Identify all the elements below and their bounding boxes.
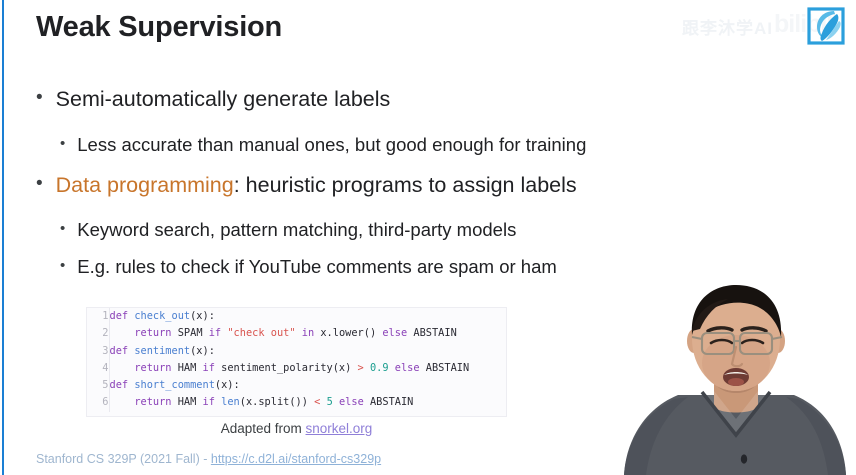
d2l-logo-icon bbox=[804, 5, 848, 49]
token-keyword: in bbox=[302, 327, 314, 339]
code-line-4: return HAM if sentiment_polarity(x) > 0.… bbox=[109, 360, 506, 377]
page-title: Weak Supervision bbox=[36, 11, 282, 44]
token-keyword: def bbox=[110, 310, 129, 322]
line-number: 4 bbox=[87, 360, 109, 377]
bullet-marker-icon: • bbox=[36, 174, 43, 193]
code-line-row: 4 return HAM if sentiment_polarity(x) > … bbox=[87, 360, 506, 377]
code-attribution: Adapted from snorkel.org bbox=[86, 421, 507, 436]
token-string: "check out" bbox=[227, 327, 295, 339]
token-plain: (x): bbox=[190, 345, 215, 357]
left-accent-rail bbox=[2, 0, 4, 475]
token-keyword: if bbox=[209, 327, 221, 339]
bullet-text-5: E.g. rules to check if YouTube comments … bbox=[77, 256, 557, 278]
token-operator: > bbox=[358, 362, 364, 374]
token-plain: ABSTAIN bbox=[370, 396, 413, 408]
slide-canvas: Weak Supervision • Semi-automatically ge… bbox=[0, 0, 856, 475]
token-keyword: if bbox=[203, 396, 215, 408]
attribution-prefix: Adapted from bbox=[221, 421, 306, 436]
token-keyword: def bbox=[110, 345, 129, 357]
line-number: 5 bbox=[87, 377, 109, 394]
bullet-marker-icon: • bbox=[60, 258, 65, 273]
presenter-figure bbox=[616, 281, 856, 475]
code-table: 1 def check_out(x): 2 return SPAM if "ch… bbox=[87, 308, 506, 412]
bullet-marker-icon: • bbox=[60, 221, 65, 236]
code-line-row: 6 return HAM if len(x.split()) < 5 else … bbox=[87, 394, 506, 411]
token-function-name: short_comment bbox=[134, 379, 215, 391]
code-line-row: 2 return SPAM if "check out" in x.lower(… bbox=[87, 325, 506, 342]
token-number: 5 bbox=[327, 396, 333, 408]
code-line-3: def sentiment(x): bbox=[109, 343, 506, 360]
token-operator: < bbox=[314, 396, 320, 408]
presenter-video-overlay[interactable] bbox=[616, 281, 856, 475]
token-function-name: check_out bbox=[134, 310, 190, 322]
bullet-item-5: • E.g. rules to check if YouTube comment… bbox=[60, 256, 557, 278]
bullet-item-1: • Semi-automatically generate labels bbox=[36, 87, 390, 112]
token-plain: SPAM bbox=[178, 327, 203, 339]
slide-footer: Stanford CS 329P (2021 Fall) - https://c… bbox=[36, 452, 381, 466]
token-plain: HAM bbox=[178, 396, 197, 408]
token-builtin: len bbox=[221, 396, 240, 408]
bullet-text-1: Semi-automatically generate labels bbox=[56, 87, 391, 112]
snorkel-link[interactable]: snorkel.org bbox=[306, 421, 373, 436]
watermark-bilibili-brand: bilibili bbox=[774, 10, 838, 39]
bullet-item-3: • Data programming: heuristic programs t… bbox=[36, 173, 577, 198]
code-line-5: def short_comment(x): bbox=[109, 377, 506, 394]
bullet-item-4: • Keyword search, pattern matching, thir… bbox=[60, 219, 516, 241]
line-number: 1 bbox=[87, 308, 109, 325]
token-keyword: if bbox=[203, 362, 215, 374]
token-plain: ABSTAIN bbox=[413, 327, 456, 339]
token-plain: (x): bbox=[190, 310, 215, 322]
line-number: 2 bbox=[87, 325, 109, 342]
token-function-name: sentiment bbox=[134, 345, 190, 357]
watermark-group: 跟李沐学AI bilibili bbox=[682, 2, 854, 52]
footer-course-text: Stanford CS 329P (2021 Fall) - bbox=[36, 452, 211, 466]
token-keyword: else bbox=[382, 327, 407, 339]
code-line-row: 5 def short_comment(x): bbox=[87, 377, 506, 394]
bullet-text-2: Less accurate than manual ones, but good… bbox=[77, 134, 586, 156]
bullet-text-3-rest: : heuristic programs to assign labels bbox=[234, 173, 577, 197]
token-keyword: else bbox=[395, 362, 420, 374]
line-number: 3 bbox=[87, 343, 109, 360]
code-line-2: return SPAM if "check out" in x.lower() … bbox=[109, 325, 506, 342]
bullet-marker-icon: • bbox=[36, 88, 43, 107]
token-plain: (x.split()) bbox=[240, 396, 308, 408]
code-line-1: def check_out(x): bbox=[109, 308, 506, 325]
token-keyword: return bbox=[134, 362, 171, 374]
token-plain: sentiment_polarity(x) bbox=[221, 362, 351, 374]
token-keyword: def bbox=[110, 379, 129, 391]
bullet-item-2: • Less accurate than manual ones, but go… bbox=[60, 134, 586, 156]
token-number: 0.9 bbox=[370, 362, 389, 374]
token-plain: ABSTAIN bbox=[426, 362, 469, 374]
bullet-text-4: Keyword search, pattern matching, third-… bbox=[77, 219, 516, 241]
token-plain: (x): bbox=[215, 379, 240, 391]
token-plain: HAM bbox=[178, 362, 197, 374]
code-line-row: 3 def sentiment(x): bbox=[87, 343, 506, 360]
line-number: 6 bbox=[87, 394, 109, 411]
token-keyword: else bbox=[339, 396, 364, 408]
code-line-6: return HAM if len(x.split()) < 5 else AB… bbox=[109, 394, 506, 411]
watermark-chinese-text: 跟李沐学AI bbox=[682, 14, 773, 39]
bullet-marker-icon: • bbox=[60, 136, 65, 151]
token-keyword: return bbox=[134, 327, 171, 339]
accent-term-data-programming: Data programming bbox=[56, 173, 234, 197]
bullet-text-3: Data programming: heuristic programs to … bbox=[56, 173, 577, 198]
code-line-row: 1 def check_out(x): bbox=[87, 308, 506, 325]
code-block[interactable]: 1 def check_out(x): 2 return SPAM if "ch… bbox=[86, 307, 507, 417]
token-keyword: return bbox=[134, 396, 171, 408]
token-plain: x.lower() bbox=[320, 327, 376, 339]
footer-course-link[interactable]: https://c.d2l.ai/stanford-cs329p bbox=[211, 452, 381, 466]
